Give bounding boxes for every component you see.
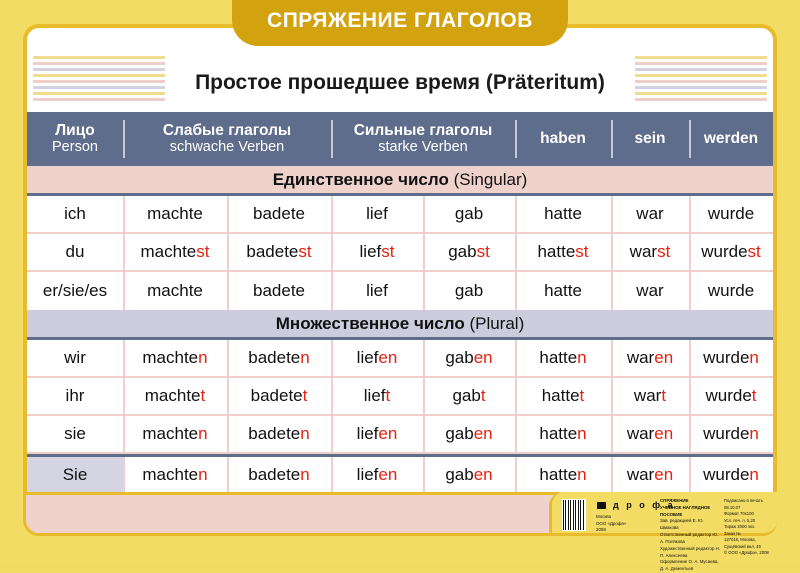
column-header-haben: haben <box>515 112 611 166</box>
verb-ending: t <box>303 386 308 406</box>
publisher-company: ООО «Дрофа» <box>596 521 626 528</box>
publisher-city: Москва <box>596 514 626 521</box>
verb-form-cell: wart <box>611 378 689 414</box>
verb-ending: t <box>661 386 666 406</box>
credit-line: Художественный редактор Н. П. Алексеева <box>660 546 722 560</box>
verb-ending: n <box>749 424 758 444</box>
verb-form-cell: machten <box>123 340 227 376</box>
verb-form-cell: machte <box>123 196 227 232</box>
verb-form-cell: lieft <box>331 378 423 414</box>
verb-form-cell: war <box>611 272 689 310</box>
header-label-ru: Слабые глаголы <box>163 123 291 140</box>
table-row: Siemachtenbadetenliefengabenhattenwarenw… <box>27 454 773 492</box>
verb-ending: n <box>300 465 309 485</box>
pronoun-cell: ich <box>27 196 123 232</box>
spec-line: Подписано в печать 08.10.07 <box>724 498 776 511</box>
verb-ending: st <box>381 242 394 262</box>
header-label-ru: haben <box>540 131 586 148</box>
verb-ending: st <box>196 242 209 262</box>
verb-form-cell: liefen <box>331 416 423 452</box>
pronoun-cell: sie <box>27 416 123 452</box>
verb-form-cell: waren <box>611 416 689 452</box>
header-label-de: Person <box>52 140 98 156</box>
column-header-sein: sein <box>611 112 689 166</box>
bee-icon <box>596 501 607 510</box>
column-header-person: ЛицоPerson <box>27 112 123 166</box>
verb-form-cell: wurdest <box>689 234 773 270</box>
verb-ending: en <box>474 424 493 444</box>
verb-ending: st <box>298 242 311 262</box>
verb-form-cell: machten <box>123 457 227 492</box>
verb-ending: n <box>198 348 207 368</box>
verb-ending: n <box>300 348 309 368</box>
section-band-label: Множественное число (Plural) <box>276 314 524 334</box>
verb-ending: en <box>474 348 493 368</box>
verb-ending: t <box>752 386 757 406</box>
column-header-werden: werden <box>689 112 773 166</box>
section-band-label: Единственное число (Singular) <box>273 170 528 190</box>
verb-form-cell: hatte <box>515 272 611 310</box>
verb-ending: n <box>300 424 309 444</box>
verb-ending: n <box>198 424 207 444</box>
spec-line: © ООО «Дрофа», 2008 <box>724 550 776 557</box>
verb-form-cell: wurde <box>689 272 773 310</box>
table-row: wirmachtenbadetenliefengabenhattenwarenw… <box>27 340 773 378</box>
verb-form-cell: waren <box>611 457 689 492</box>
verb-ending: st <box>657 242 670 262</box>
verb-form-cell: warst <box>611 234 689 270</box>
verb-ending: t <box>580 386 585 406</box>
verb-form-cell: hatten <box>515 340 611 376</box>
verb-form-cell: hattet <box>515 378 611 414</box>
verb-ending: n <box>749 348 758 368</box>
header-label-ru: Лицо <box>55 123 94 140</box>
verb-ending: en <box>654 424 673 444</box>
verb-form-cell: badetest <box>227 234 331 270</box>
poster-title: СПРЯЖЕНИЕ ГЛАГОЛОВ <box>267 10 533 31</box>
credit-line: Оформление О. А. Мусаева, Д. А. Дементье… <box>660 559 722 573</box>
publisher-year: 2008 <box>596 527 626 534</box>
verb-ending: en <box>378 465 397 485</box>
poster-page: СПРЯЖЕНИЕ ГЛАГОЛОВ Простое прошедшее вре… <box>0 0 800 562</box>
header-label-de: schwache Verben <box>170 140 284 156</box>
title-banner: СПРЯЖЕНИЕ ГЛАГОЛОВ <box>232 0 568 46</box>
verb-form-cell: machten <box>123 416 227 452</box>
verb-form-cell: wurdet <box>689 378 773 414</box>
credits-list: Зав. редакцией Е. Ю. ШмаковаОтветственны… <box>660 518 722 573</box>
verb-form-cell: machtest <box>123 234 227 270</box>
verb-form-cell: machtet <box>123 378 227 414</box>
verb-ending: en <box>474 465 493 485</box>
verb-form-cell: waren <box>611 340 689 376</box>
verb-ending: n <box>577 424 586 444</box>
verb-ending: st <box>748 242 761 262</box>
verb-form-cell: wurden <box>689 457 773 492</box>
credit-line: Зав. редакцией Е. Ю. Шмакова <box>660 518 722 532</box>
header-label-ru: Сильные глаголы <box>354 123 493 140</box>
verb-ending: t <box>201 386 206 406</box>
verb-form-cell: liefst <box>331 234 423 270</box>
verb-ending: n <box>577 348 586 368</box>
verb-form-cell: gaben <box>423 416 515 452</box>
verb-form-cell: machte <box>123 272 227 310</box>
pronoun-cell: Sie <box>27 457 123 492</box>
verb-form-cell: gab <box>423 272 515 310</box>
verb-form-cell: hattest <box>515 234 611 270</box>
verb-form-cell: wurden <box>689 340 773 376</box>
verb-ending: st <box>477 242 490 262</box>
imprint-subtitle: УЧЕБНОЕ НАГЛЯДНОЕ ПОСОБИЕ <box>660 505 722 519</box>
spec-line: 127018, Москва, Сущёвский вал, 49 <box>724 537 776 550</box>
verb-form-cell: badetet <box>227 378 331 414</box>
barcode <box>562 499 586 531</box>
table-header-row: ЛицоPersonСлабые глаголыschwache VerbenС… <box>27 112 773 166</box>
verb-form-cell: badeten <box>227 416 331 452</box>
verb-ending: n <box>577 465 586 485</box>
verb-ending: n <box>749 465 758 485</box>
header-label-ru: werden <box>704 131 758 148</box>
pronoun-cell: wir <box>27 340 123 376</box>
table-row: ihrmachtetbadetetlieftgabthattetwartwurd… <box>27 378 773 416</box>
verb-form-cell: liefen <box>331 340 423 376</box>
verb-form-cell: lief <box>331 196 423 232</box>
column-header-starke-verben: Сильные глаголыstarke Verben <box>331 112 515 166</box>
verb-ending: en <box>654 465 673 485</box>
pronoun-cell: ihr <box>27 378 123 414</box>
table-row: ichmachtebadeteliefgabhattewarwurde <box>27 196 773 234</box>
pronoun-cell: er/sie/es <box>27 272 123 310</box>
verb-form-cell: gabt <box>423 378 515 414</box>
verb-ending: t <box>481 386 486 406</box>
table-row: dumachtestbadetestliefstgabsthattestwars… <box>27 234 773 272</box>
column-header-schwache-verben: Слабые глаголыschwache Verben <box>123 112 331 166</box>
verb-form-cell: badete <box>227 272 331 310</box>
footer-imprint-panel: д р о ф а Москва ООО «Дрофа» 2008 СПРЯЖЕ… <box>549 492 777 536</box>
imprint-title: СПРЯЖЕНИЕ <box>660 498 722 505</box>
header-label-de: starke Verben <box>378 140 467 156</box>
verb-form-cell: lief <box>331 272 423 310</box>
section-band-plural: Множественное число (Plural) <box>27 310 773 340</box>
verb-form-cell: gaben <box>423 340 515 376</box>
verb-form-cell: hatten <box>515 416 611 452</box>
conjugation-table: ЛицоPersonСлабые глаголыschwache VerbenС… <box>27 112 773 492</box>
table-row: er/sie/esmachtebadeteliefgabhattewarwurd… <box>27 272 773 310</box>
verb-form-cell: war <box>611 196 689 232</box>
verb-ending: en <box>378 424 397 444</box>
verb-form-cell: liefen <box>331 457 423 492</box>
verb-form-cell: gaben <box>423 457 515 492</box>
verb-ending: en <box>378 348 397 368</box>
verb-form-cell: badeten <box>227 457 331 492</box>
subtitle-row: Простое прошедшее время (Präteritum) <box>27 58 773 108</box>
header-label-ru: sein <box>634 131 665 148</box>
verb-form-cell: hatten <box>515 457 611 492</box>
credit-line: Ответственный редактор Ю. А. Полякова <box>660 532 722 546</box>
verb-ending: st <box>575 242 588 262</box>
imprint-specs: Подписано в печать 08.10.07Формат 70х100… <box>724 498 776 557</box>
verb-ending: en <box>654 348 673 368</box>
verb-form-cell: gabst <box>423 234 515 270</box>
verb-form-cell: wurde <box>689 196 773 232</box>
verb-form-cell: hatte <box>515 196 611 232</box>
pronoun-cell: du <box>27 234 123 270</box>
verb-form-cell: wurden <box>689 416 773 452</box>
verb-form-cell: gab <box>423 196 515 232</box>
content-card: Простое прошедшее время (Präteritum) Лиц… <box>23 24 777 512</box>
publisher-address: Москва ООО «Дрофа» 2008 <box>596 514 626 534</box>
table-row: siemachtenbadetenliefengabenhattenwarenw… <box>27 416 773 454</box>
verb-ending: t <box>386 386 391 406</box>
verb-form-cell: badete <box>227 196 331 232</box>
verb-form-cell: badeten <box>227 340 331 376</box>
poster-subtitle: Простое прошедшее время (Präteritum) <box>181 69 619 97</box>
section-band-singular: Единственное число (Singular) <box>27 166 773 196</box>
verb-ending: n <box>198 465 207 485</box>
